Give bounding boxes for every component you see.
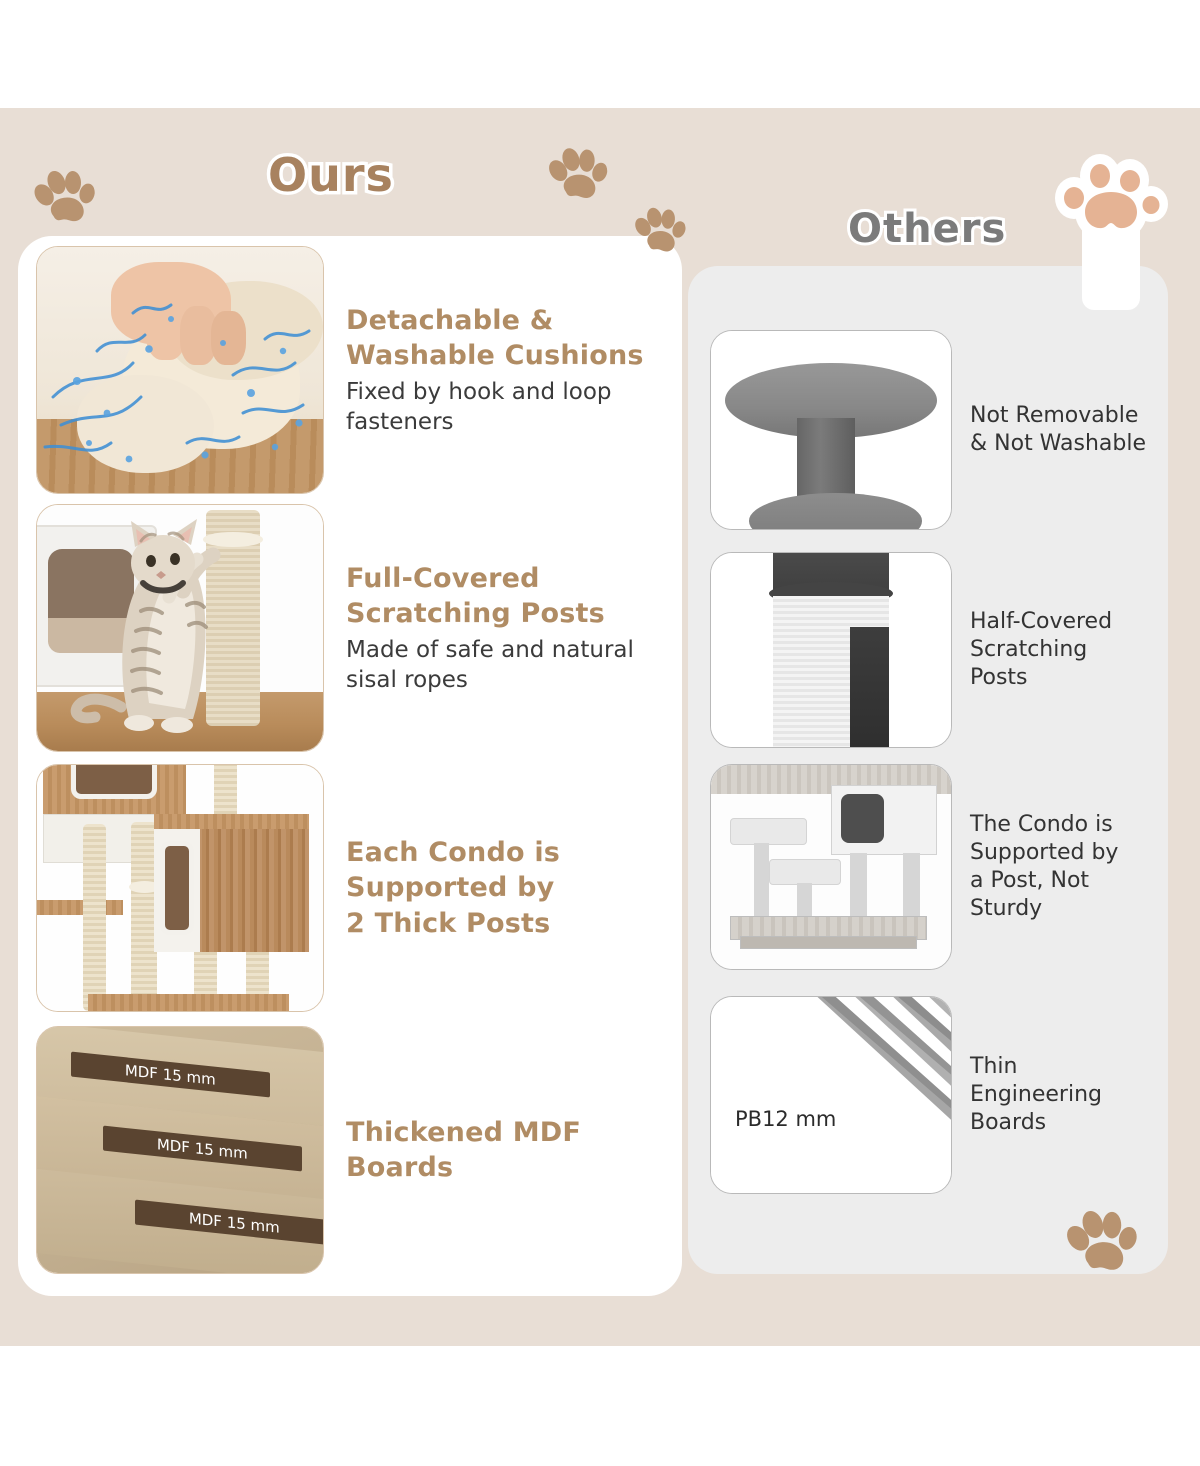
ours-feature-row-4: MDF 15 mm MDF 15 mm MDF 15 mm Thickened … [36, 1026, 676, 1274]
ours-feature-text-2: Full-Covered Scratching Posts Made of sa… [346, 561, 634, 696]
ours-feature-title-1: Detachable & Washable Cushions [346, 303, 644, 373]
others-feature-text-3: The Condo is Supported by a Post, Not St… [970, 811, 1118, 924]
infographic-root: Ours Others [0, 0, 1200, 1466]
cat-paw-icon [1052, 140, 1172, 314]
page-title-ours: Ours [268, 148, 394, 202]
others-feature-text-1: Not Removable & Not Washable [970, 402, 1146, 458]
paw-print-icon-top-mid-2 [630, 203, 689, 264]
page-title-others: Others [848, 206, 1006, 252]
kitten-scratching-post-photo [36, 504, 324, 752]
paw-print-icon-bottom-right [1059, 1201, 1145, 1288]
others-feature-row-3: The Condo is Supported by a Post, Not St… [710, 764, 1162, 970]
ours-feature-subtitle-1: Fixed by hook and loop fasteners [346, 378, 644, 438]
ours-feature-text-1: Detachable & Washable Cushions Fixed by … [346, 303, 644, 438]
ours-feature-text-4: Thickened MDF Boards [346, 1115, 581, 1185]
half-covered-post-photo [710, 552, 952, 748]
ours-feature-title-4: Thickened MDF Boards [346, 1115, 581, 1185]
others-feature-row-1: Not Removable & Not Washable [710, 330, 1162, 530]
condo-single-post-photo [710, 764, 952, 970]
others-feature-text-2: Half-Covered Scratching Posts [970, 608, 1112, 692]
ours-feature-text-3: Each Condo is Supported by 2 Thick Posts [346, 835, 560, 940]
ours-feature-subtitle-2: Made of safe and natural sisal ropes [346, 636, 634, 696]
ours-feature-row-1: Detachable & Washable Cushions Fixed by … [36, 246, 676, 494]
mdf-boards-photo: MDF 15 mm MDF 15 mm MDF 15 mm [36, 1026, 324, 1274]
others-feature-text-4: Thin Engineering Boards [970, 1053, 1102, 1137]
thin-pb-boards-photo: PB12 mm [710, 996, 952, 1194]
ours-feature-row-3: Each Condo is Supported by 2 Thick Posts [36, 764, 676, 1012]
hand-washing-cushion-photo [36, 246, 324, 494]
mdf-board-label-3: MDF 15 mm [189, 1208, 280, 1236]
ours-feature-row-2: Full-Covered Scratching Posts Made of sa… [36, 504, 676, 752]
ours-feature-title-3: Each Condo is Supported by 2 Thick Posts [346, 835, 560, 940]
ours-feature-title-2: Full-Covered Scratching Posts [346, 561, 634, 631]
pb-board-label: PB12 mm [735, 1107, 836, 1131]
others-feature-row-4: PB12 mm Thin Engineering Boards [710, 996, 1162, 1194]
gray-plush-plateau-photo [710, 330, 952, 530]
wooden-condo-two-posts-photo [36, 764, 324, 1012]
paw-print-icon-top-mid-1 [543, 141, 613, 212]
others-feature-row-2: Half-Covered Scratching Posts [710, 552, 1162, 748]
